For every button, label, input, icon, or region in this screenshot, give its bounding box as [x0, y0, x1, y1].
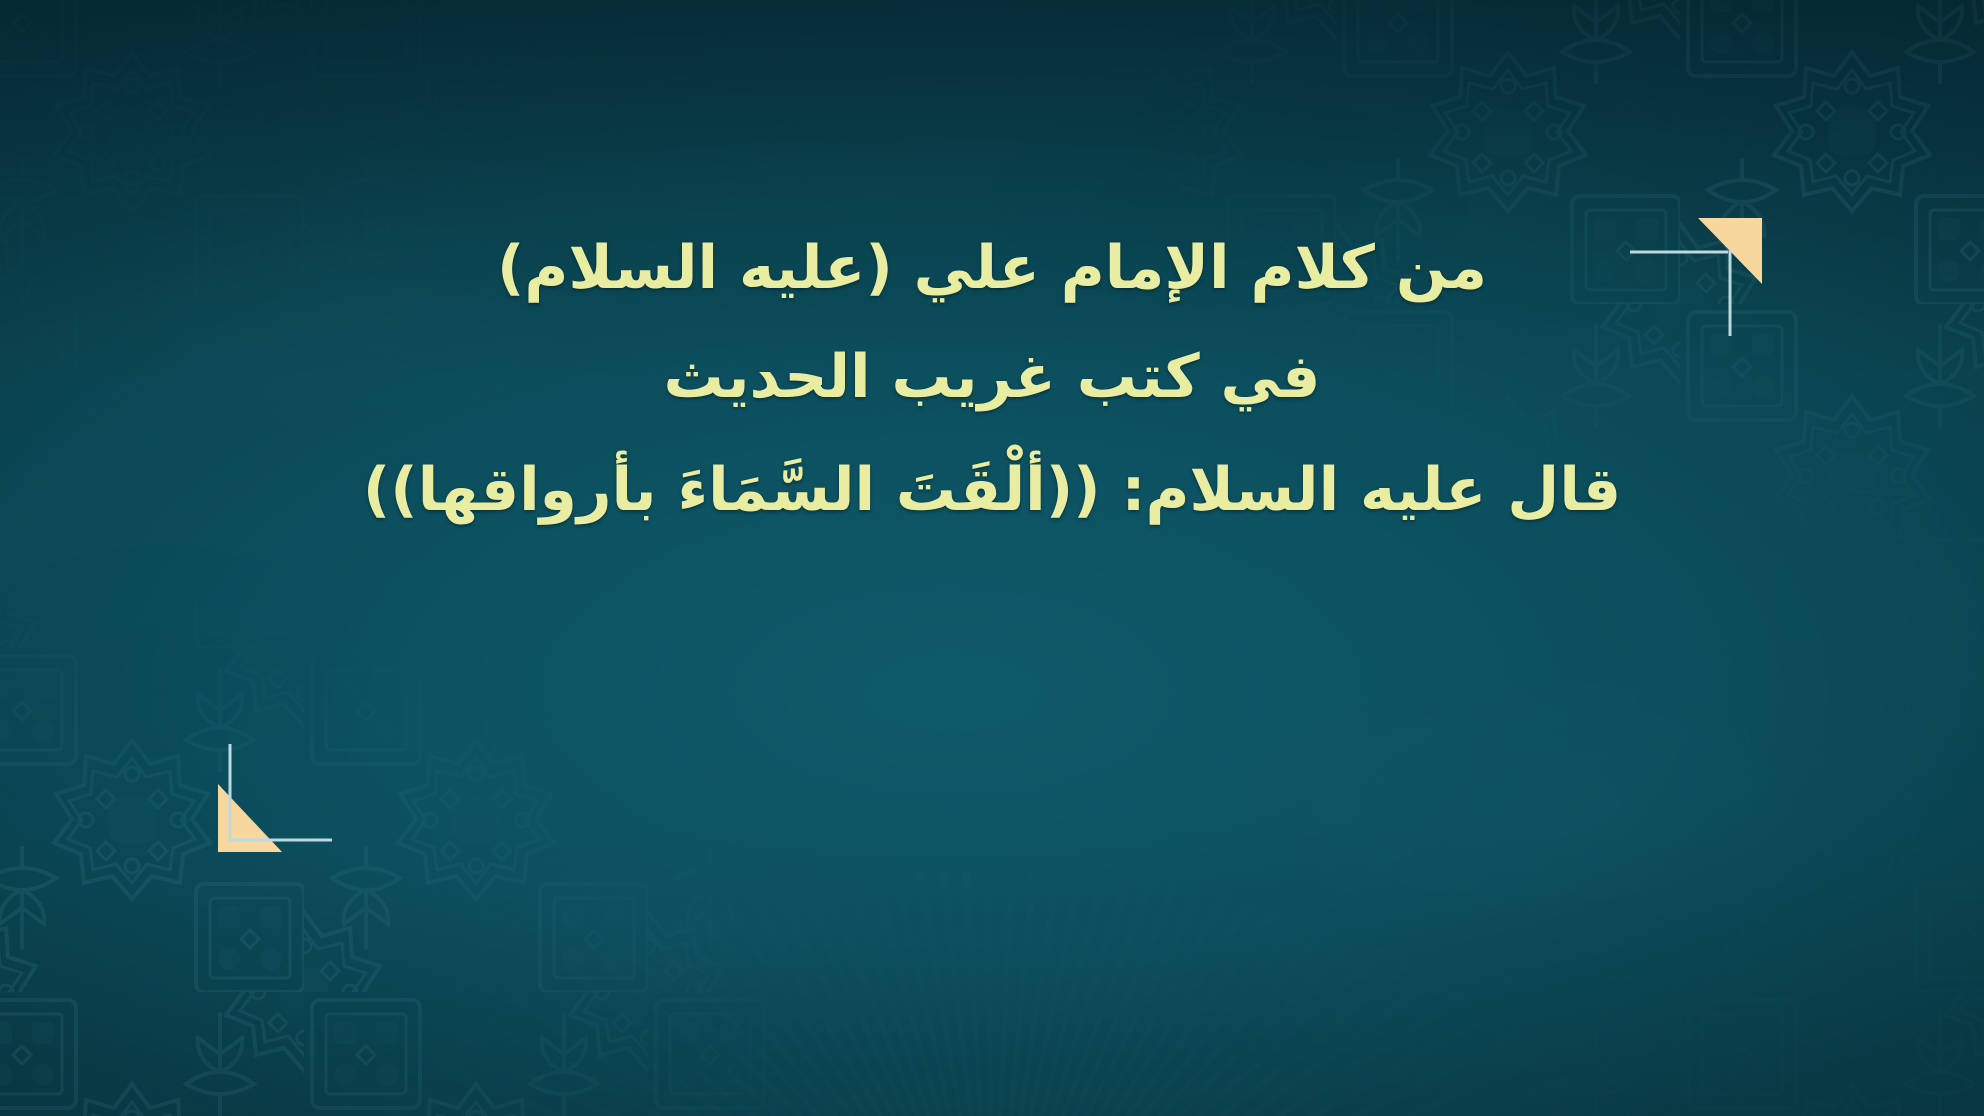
background-vignette	[0, 0, 1984, 1116]
corner-ornament-bottom-left	[196, 750, 326, 880]
slide-canvas: من كلام الإمام علي (عليه السلام) في كتب …	[0, 0, 1984, 1116]
quote-line-heading: من كلام الإمام علي (عليه السلام)	[0, 232, 1984, 305]
quote-line-source: في كتب غريب الحديث	[0, 341, 1984, 414]
quote-text-block: من كلام الإمام علي (عليه السلام) في كتب …	[0, 232, 1984, 528]
quote-line-saying: قال عليه السلام: ((ألْقَتَ السَّمَاءَ بأ…	[0, 454, 1984, 527]
